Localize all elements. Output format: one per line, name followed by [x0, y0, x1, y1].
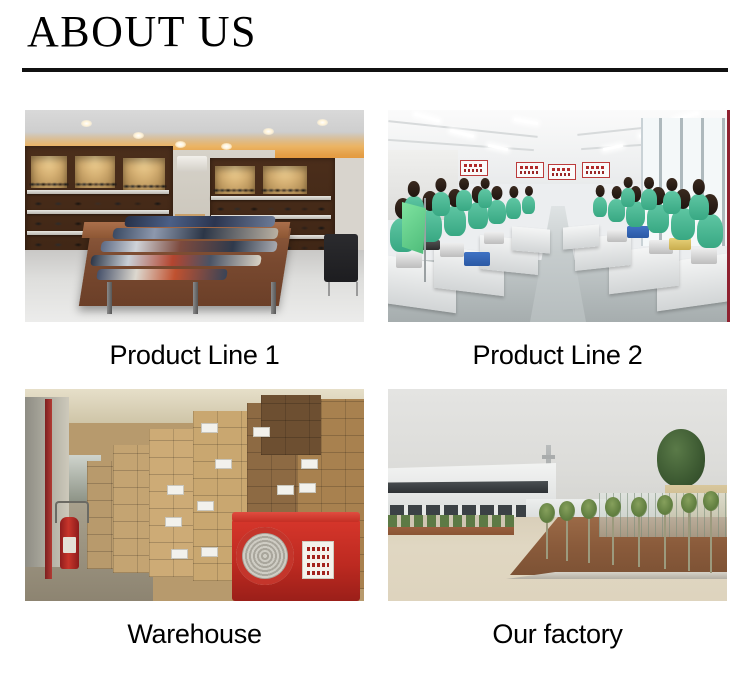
shoe-display [213, 182, 255, 194]
worker [478, 189, 492, 208]
fire-hose-cart [232, 519, 360, 601]
cart-lid [232, 512, 360, 522]
box-label [165, 517, 182, 527]
chair [324, 234, 358, 282]
sign-line [464, 164, 484, 167]
sign-line [464, 169, 484, 172]
worker [456, 190, 472, 211]
carton-stack [261, 395, 321, 455]
instruction-plate [302, 541, 334, 579]
banner-sign [460, 160, 488, 176]
sign-line [586, 171, 606, 174]
hedge-row [388, 515, 514, 527]
sign-line [552, 173, 572, 176]
worker [506, 198, 521, 219]
table-leg [193, 282, 198, 314]
worker [593, 197, 607, 217]
gallery-cell-product-line-1[interactable]: Product Line 1 [25, 110, 364, 370]
box-label [277, 485, 294, 495]
sewing-factory-floor-photo[interactable] [388, 110, 730, 322]
gallery-cell-warehouse[interactable]: Warehouse [25, 389, 364, 649]
downlight-icon [133, 132, 144, 139]
table-leg [107, 282, 112, 314]
page-title: ABOUT US [27, 6, 257, 58]
downlight-icon [317, 119, 328, 126]
sewing-machine [396, 252, 422, 268]
caption-product-line-2: Product Line 2 [388, 322, 727, 370]
sign-line [586, 166, 606, 169]
shoe-row [124, 216, 276, 227]
box-label [167, 485, 184, 495]
shoe-display [27, 194, 169, 208]
caption-warehouse: Warehouse [25, 601, 364, 649]
sewing-machine [691, 248, 717, 264]
work-bench [512, 226, 550, 253]
sapling [588, 511, 590, 563]
fire-extinguisher-icon [60, 517, 79, 569]
about-us-gallery: Product Line 1 [0, 110, 750, 649]
gallery-row: Warehouse [0, 389, 750, 649]
worker [663, 191, 681, 214]
sapling [566, 513, 568, 561]
worker [432, 192, 450, 216]
sewing-machine [607, 230, 627, 242]
factory-exterior-photo[interactable] [388, 389, 727, 601]
plate-line [307, 555, 329, 559]
caption-product-line-1: Product Line 1 [25, 322, 364, 370]
building-window-band [388, 481, 548, 493]
parts-bin [627, 226, 649, 238]
sapling [612, 509, 614, 565]
shoe-row [112, 228, 279, 239]
box-label [201, 423, 218, 433]
hose-reel-icon [236, 527, 294, 585]
shoe-showroom-photo[interactable] [25, 110, 364, 322]
caption-our-factory: Our factory [388, 601, 727, 649]
downlight-icon [221, 143, 232, 150]
plate-line [307, 571, 329, 575]
banner-sign [516, 162, 544, 178]
work-bench [563, 224, 599, 249]
warehouse-photo[interactable] [25, 389, 364, 601]
shoe-display [75, 176, 117, 188]
sign-line [520, 171, 540, 174]
sapling [688, 505, 690, 571]
sign-line [520, 166, 540, 169]
box-label [299, 483, 316, 493]
gallery-row: Product Line 1 [0, 110, 750, 370]
title-divider [22, 68, 728, 72]
air-conditioner-icon [177, 156, 207, 172]
downlight-icon [175, 141, 186, 148]
sewing-machine [484, 232, 504, 244]
red-pillar [45, 399, 52, 579]
plate-line [307, 563, 329, 567]
gallery-cell-our-factory[interactable]: Our factory [388, 389, 727, 649]
sewing-machine [440, 243, 464, 257]
sapling [638, 509, 640, 567]
gallery-cell-product-line-2[interactable]: Product Line 2 [388, 110, 727, 370]
downlight-icon [263, 128, 274, 135]
box-label [201, 547, 218, 557]
shoe-display [261, 182, 307, 194]
parts-bin [464, 252, 490, 266]
box-label [301, 459, 318, 469]
banner-sign [582, 162, 610, 178]
box-label [215, 459, 232, 469]
shoe-row [90, 255, 262, 266]
banner-sign [548, 164, 576, 180]
worker [641, 189, 657, 210]
shoe-display [29, 176, 69, 188]
sign-line [552, 168, 572, 171]
box-label [197, 501, 214, 511]
shoe-display [123, 178, 167, 190]
sapling [546, 515, 548, 559]
shoe-row [96, 269, 228, 280]
sapling [710, 503, 712, 573]
downlight-icon [81, 120, 92, 127]
box-label [253, 427, 270, 437]
green-flag-icon [402, 202, 426, 254]
shoe-display [211, 200, 331, 213]
tree [657, 429, 705, 487]
worker [689, 194, 709, 220]
sapling [664, 507, 666, 569]
shoe-row [100, 241, 278, 252]
box-label [171, 549, 188, 559]
worker [522, 196, 535, 214]
plate-line [307, 547, 329, 551]
table-leg [271, 282, 276, 314]
worker [621, 188, 635, 207]
